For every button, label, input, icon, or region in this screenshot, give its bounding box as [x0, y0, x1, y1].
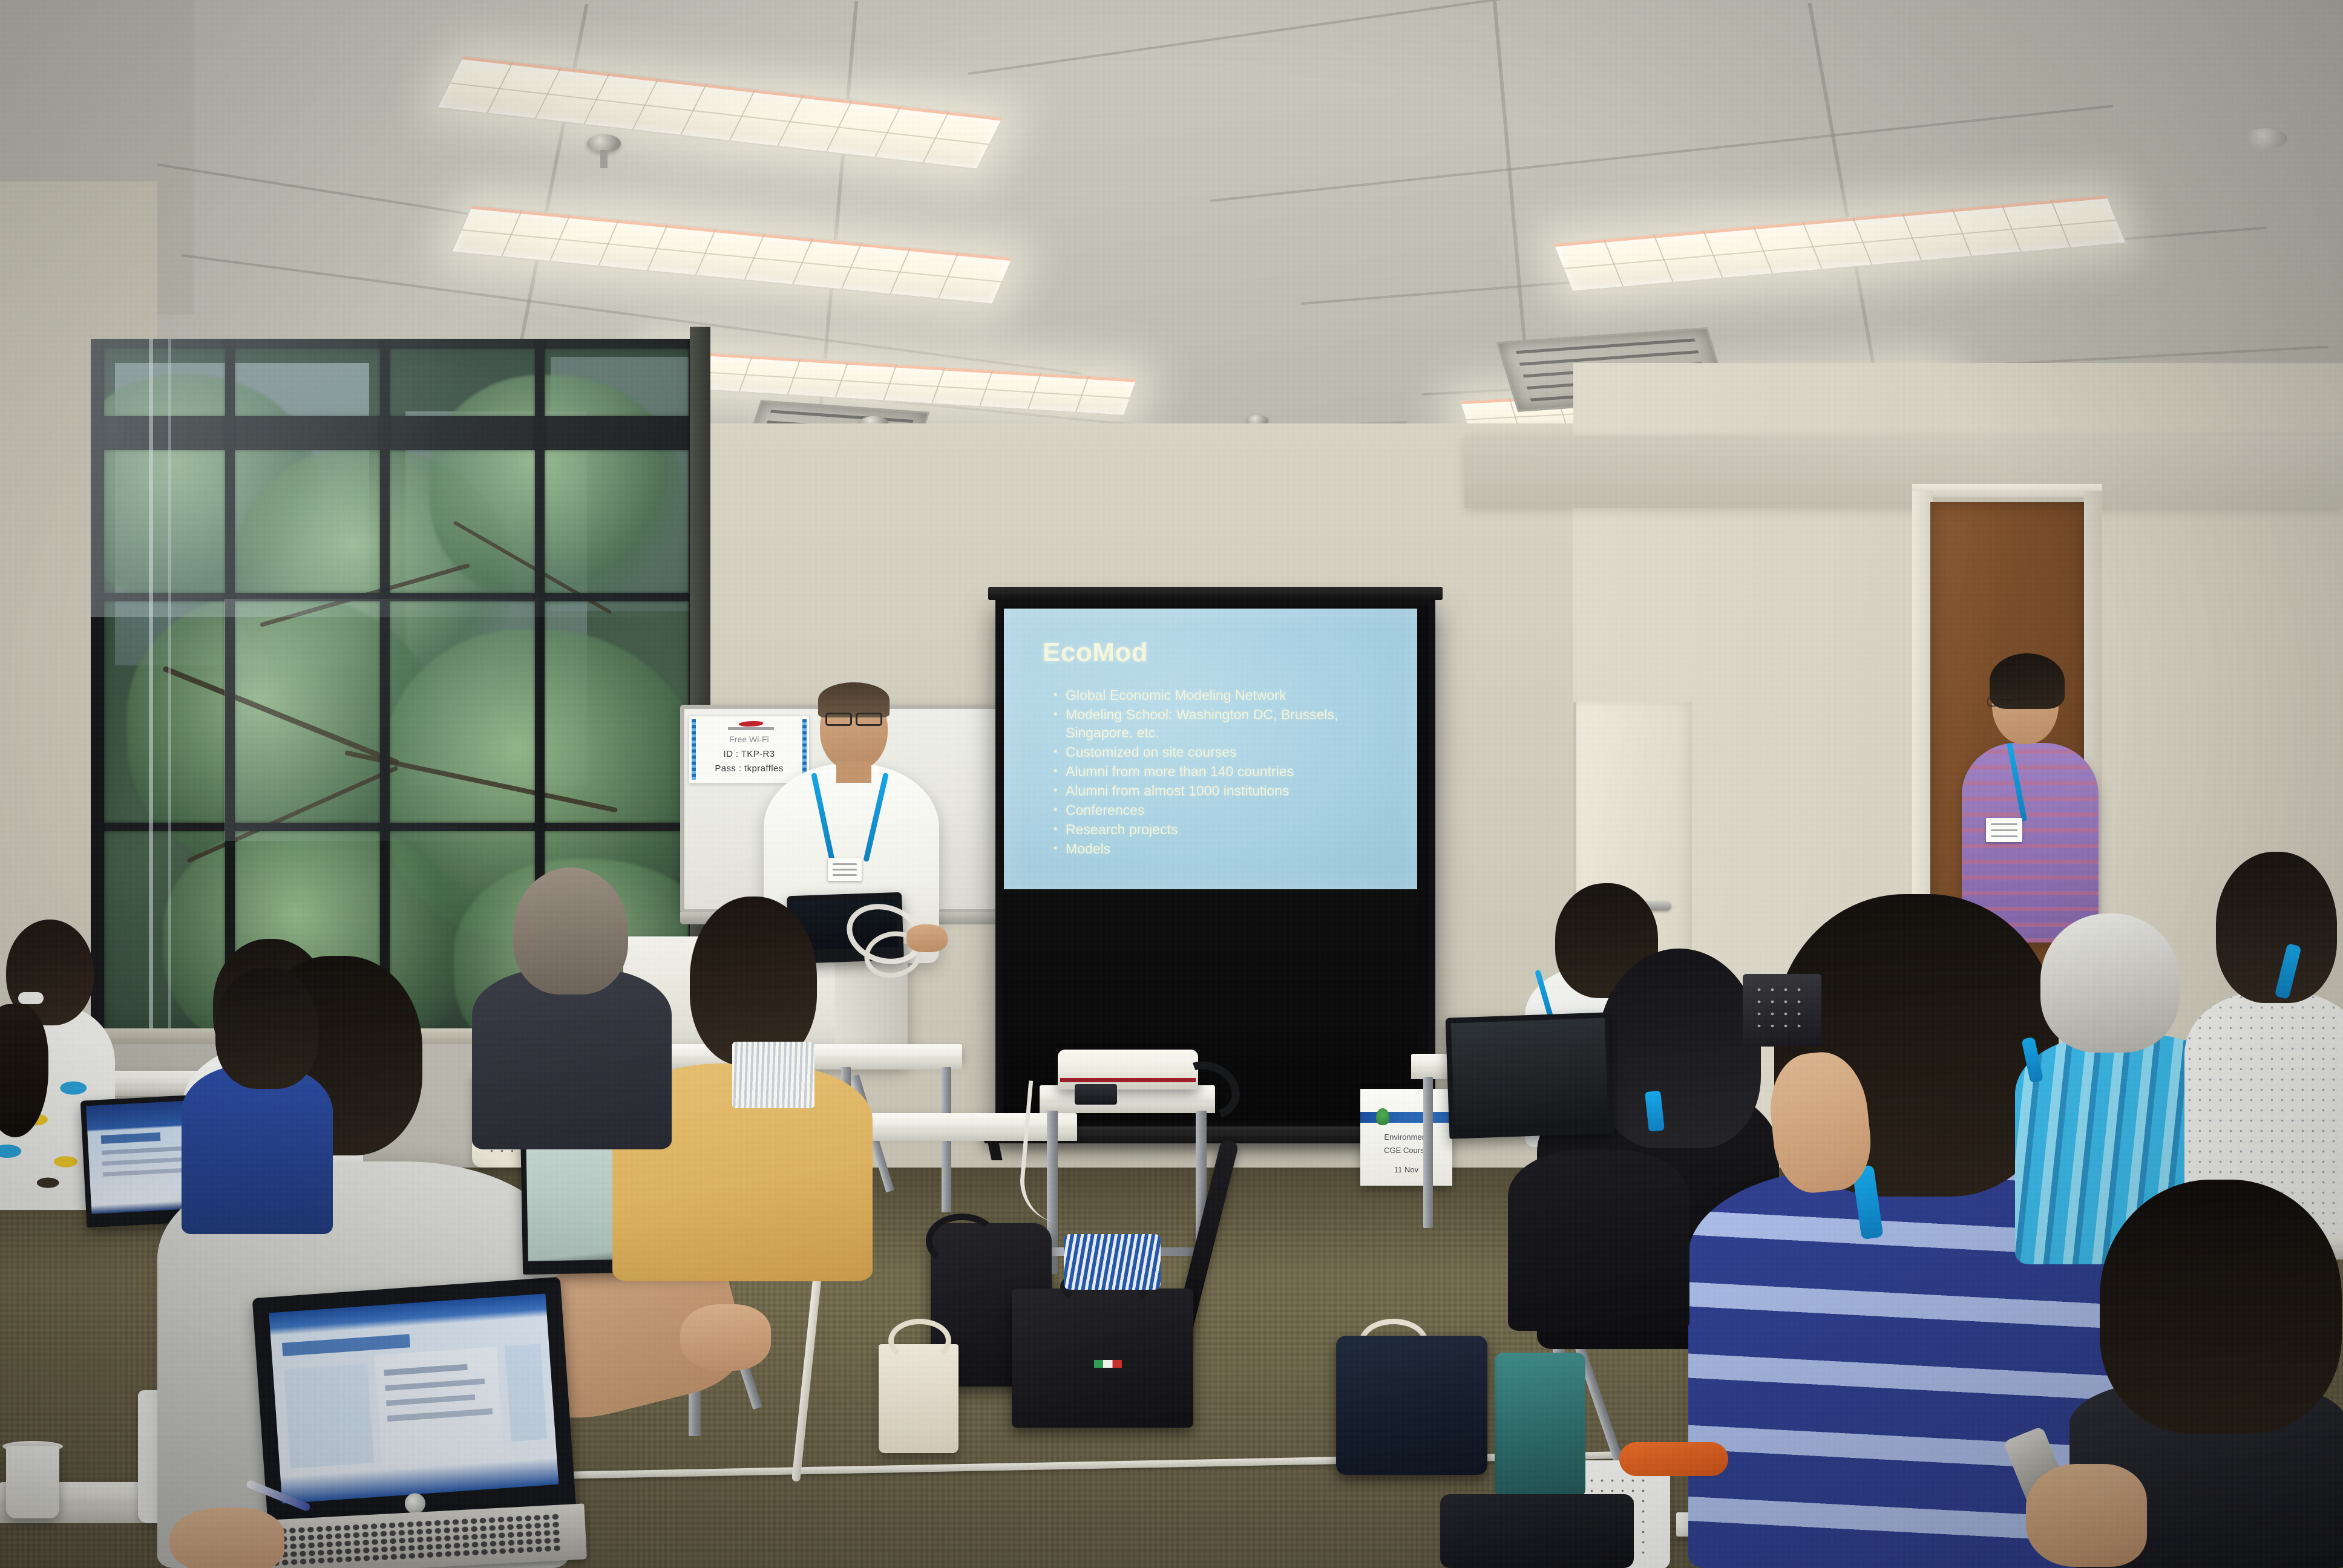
- teal-bag: [1495, 1353, 1585, 1498]
- classroom-photo: Free Wi-Fi ID : TKP-R3 Pass : tkpraffles…: [0, 0, 2343, 1568]
- ceiling-speaker-icon: [2245, 128, 2287, 149]
- attendee-head: [215, 968, 318, 1089]
- right-soffit: [1464, 436, 2343, 508]
- floor-bag-right: [1336, 1336, 1487, 1475]
- door-frame-top: [1912, 484, 2102, 497]
- attendee-body: [1508, 1149, 1689, 1331]
- folded-blue-shirt: [1064, 1234, 1161, 1290]
- slide-title: EcoMod: [1043, 638, 1148, 668]
- slide-bullet: Modeling School: Washington DC, Brussels…: [1050, 705, 1407, 742]
- slide-bullet-list: Global Economic Modeling Network Modelin…: [1050, 686, 1407, 859]
- floor-bag-right: [1440, 1494, 1634, 1568]
- presenter-name-badge: [828, 858, 862, 881]
- attendee-head: [2216, 852, 2337, 1003]
- presenter-hand: [906, 924, 948, 952]
- wifi-sign-header: Free Wi-Fi: [689, 734, 809, 744]
- wifi-password-text: Pass : tkpraffles: [689, 763, 809, 774]
- wifi-info-sign: Free Wi-Fi ID : TKP-R3 Pass : tkpraffles: [689, 716, 810, 783]
- attendee-hand: [169, 1508, 284, 1568]
- window-blind-strip: [149, 339, 153, 1040]
- attendee-headscarf: [1597, 949, 1761, 1148]
- attendee-hair-tie: [18, 992, 44, 1004]
- coffee-cup[interactable]: [6, 1446, 59, 1518]
- attendee-hand: [2026, 1464, 2147, 1567]
- laptop-bag-logo: [1094, 1360, 1122, 1368]
- table-leg: [1423, 1077, 1433, 1228]
- backpack-strap: [926, 1214, 998, 1268]
- tote-bag-handle: [888, 1319, 951, 1362]
- attendee-laptop[interactable]: [1446, 1012, 1614, 1138]
- presentation-slide: EcoMod Global Economic Modeling Network …: [1004, 609, 1417, 889]
- slide-bullet: Customized on site courses: [1050, 743, 1407, 761]
- laptop-brand-logo: [404, 1492, 426, 1514]
- window-blind-strip: [168, 339, 171, 1040]
- slide-bullet: Global Economic Modeling Network: [1050, 686, 1407, 704]
- supplies-box-line1: Environment: [1360, 1132, 1452, 1142]
- attendee-hand: [680, 1304, 771, 1371]
- slide-bullet: Alumni from more than 140 countries: [1050, 762, 1407, 780]
- slide-bullet: Models: [1050, 840, 1407, 858]
- attendee-body: [472, 968, 672, 1149]
- supplies-box-line3: 11 Nov: [1360, 1165, 1452, 1174]
- standing-observer-glasses-icon: [1987, 697, 2015, 707]
- attendee-body: [182, 1065, 333, 1234]
- attendee-head: [690, 897, 817, 1066]
- projector-cable-vga: [1017, 1080, 1089, 1224]
- venue-logo-icon: [723, 720, 778, 730]
- orange-item: [1619, 1442, 1728, 1476]
- attendee-collar: [732, 1042, 814, 1108]
- presenter-glasses-icon: [856, 713, 882, 726]
- standing-observer-name-badge: [1986, 818, 2022, 842]
- slide-bullet: Conferences: [1050, 801, 1407, 819]
- presenter-neck: [836, 761, 871, 783]
- smoke-detector-stem: [600, 150, 608, 168]
- laptop-bag: [1012, 1289, 1193, 1428]
- screen-top-rail: [988, 587, 1443, 600]
- wifi-ssid-text: ID : TKP-R3: [689, 749, 809, 759]
- attendee-head: [2100, 1180, 2342, 1434]
- slide-bullet: Alumni from almost 1000 institutions: [1050, 782, 1407, 800]
- supplies-box-line2: CGE Course: [1360, 1146, 1452, 1155]
- supplies-box: Environment CGE Course 11 Nov: [1360, 1089, 1452, 1186]
- wall-keypad-buttons: [1752, 984, 1810, 1036]
- presenter-glasses-icon: [825, 713, 852, 726]
- slide-bullet: Research projects: [1050, 820, 1407, 838]
- attendee-head: [513, 867, 628, 995]
- attendee-head: [2040, 913, 2180, 1053]
